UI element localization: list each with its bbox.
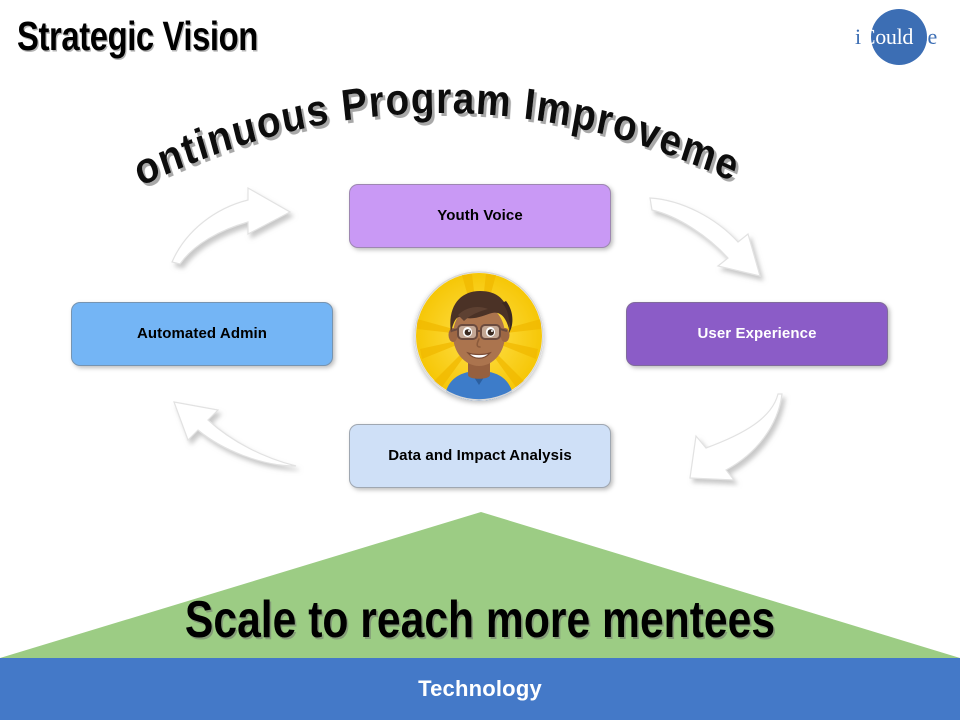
logo-word-could: Could — [861, 24, 913, 49]
logo-word-be: Be — [913, 24, 937, 49]
technology-bar: Technology — [0, 658, 960, 720]
curved-arrow-down-right-icon — [648, 192, 778, 278]
cycle-box-label: User Experience — [697, 325, 816, 343]
arc-headline: Continuous Program Improvement — [140, 78, 830, 188]
curved-arrow-down-left-icon — [660, 392, 790, 482]
foundation-headline: Scale to reach more mentees — [86, 592, 873, 648]
logo-wordmark: iCouldBe — [840, 24, 952, 50]
icouldbe-logo: iCouldBe — [840, 8, 952, 66]
slide-canvas: Strategic Vision iCouldBe Continuous Pro… — [0, 0, 960, 720]
technology-bar-label: Technology — [418, 676, 542, 702]
svg-text:Continuous Program Improvement: Continuous Program Improvement — [123, 38, 746, 196]
curved-arrow-up-right-icon — [168, 186, 298, 266]
page-title: Strategic Vision — [17, 14, 258, 58]
cycle-box-youth-voice[interactable]: Youth Voice — [349, 184, 611, 248]
curved-arrow-up-left-icon — [170, 396, 300, 482]
cycle-box-label: Data and Impact Analysis — [388, 447, 572, 465]
arc-headline-text: Continuous Program Improvement — [123, 38, 746, 196]
cycle-box-label: Automated Admin — [137, 325, 267, 343]
cycle-box-data-and-impact-analysis[interactable]: Data and Impact Analysis — [349, 424, 611, 488]
student-avatar — [414, 271, 544, 401]
cycle-box-user-experience[interactable]: User Experience — [626, 302, 888, 366]
cycle-box-automated-admin[interactable]: Automated Admin — [71, 302, 333, 366]
cycle-box-label: Youth Voice — [437, 207, 523, 225]
